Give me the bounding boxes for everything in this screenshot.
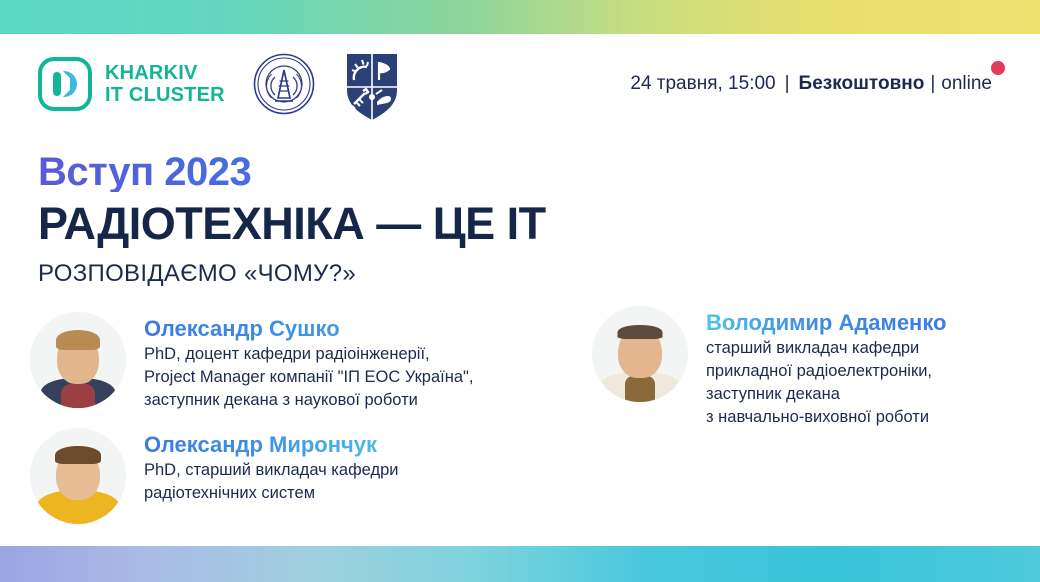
speaker-card: Олександр Мирончук PhD, старший викладач… bbox=[30, 428, 590, 524]
kic-wordmark-line1: KHARKIV bbox=[105, 62, 225, 84]
kic-wordmark-line2: IT CLUSTER bbox=[105, 84, 225, 106]
avatar bbox=[30, 312, 126, 408]
avatar bbox=[30, 428, 126, 524]
kic-letter-i-icon bbox=[53, 72, 61, 96]
speaker-card: Олександр Сушко PhD, доцент кафедри раді… bbox=[30, 312, 590, 412]
speaker-role: старший викладач кафедри прикладної раді… bbox=[706, 337, 947, 428]
event-poster: KHARKIV IT CLUSTER bbox=[0, 0, 1040, 582]
avatar-hair bbox=[55, 446, 101, 464]
university-shield-icon bbox=[343, 50, 401, 120]
university-shield-logo bbox=[343, 50, 401, 118]
event-price: Безкоштовно bbox=[799, 73, 925, 95]
live-dot-icon bbox=[991, 61, 1005, 75]
speaker-info: Володимир Адаменко старший викладач кафе… bbox=[688, 306, 947, 428]
event-meta: 24 травня, 15:00 | Безкоштовно | online bbox=[630, 73, 992, 95]
speaker-card: Володимир Адаменко старший викладач кафе… bbox=[592, 306, 1022, 428]
kic-letter-c-icon bbox=[63, 71, 77, 97]
kic-wordmark: KHARKIV IT CLUSTER bbox=[105, 62, 225, 107]
bottom-gradient-bar bbox=[0, 546, 1040, 582]
speaker-role: PhD, старший викладач кафедри радіотехні… bbox=[144, 459, 398, 505]
speakers-left-column: Олександр Сушко PhD, доцент кафедри раді… bbox=[30, 312, 590, 540]
avatar-hair bbox=[618, 325, 663, 339]
speaker-info: Олександр Сушко PhD, доцент кафедри раді… bbox=[126, 312, 473, 412]
speaker-name: Олександр Мирончук bbox=[144, 432, 398, 457]
speaker-name: Володимир Адаменко bbox=[706, 310, 947, 335]
nure-seal-icon bbox=[253, 53, 315, 115]
avatar bbox=[592, 306, 688, 402]
logo-group: KHARKIV IT CLUSTER bbox=[38, 50, 401, 118]
speaker-name: Олександр Сушко bbox=[144, 316, 473, 341]
event-date: 24 травня, 15:00 bbox=[630, 73, 775, 95]
page-title: РАДІОТЕХНІКА — ЦЕ IT bbox=[38, 200, 738, 249]
event-separator-1: | bbox=[785, 73, 790, 95]
speaker-role: PhD, доцент кафедри радіоінженерії, Proj… bbox=[144, 343, 473, 411]
event-separator-2: | bbox=[930, 73, 935, 95]
title-kicker: Вступ 2023 bbox=[38, 152, 738, 192]
avatar-embroidery bbox=[625, 376, 655, 402]
top-gradient-bar bbox=[0, 0, 1040, 34]
kic-mark-icon bbox=[38, 57, 92, 111]
event-format-wrap: online bbox=[941, 73, 992, 95]
nure-seal-logo bbox=[253, 53, 315, 115]
poster-header: KHARKIV IT CLUSTER bbox=[0, 34, 1040, 134]
speakers-right-column: Володимир Адаменко старший викладач кафе… bbox=[592, 306, 1022, 444]
title-block: Вступ 2023 РАДІОТЕХНІКА — ЦЕ IT РОЗПОВІД… bbox=[38, 152, 738, 287]
title-subhead: РОЗПОВІДАЄМО «ЧОМУ?» bbox=[38, 261, 738, 287]
event-format: online bbox=[941, 73, 992, 94]
kharkiv-it-cluster-logo: KHARKIV IT CLUSTER bbox=[38, 57, 225, 111]
avatar-hair bbox=[56, 330, 100, 350]
avatar-shirt bbox=[61, 384, 95, 408]
speaker-info: Олександр Мирончук PhD, старший викладач… bbox=[126, 428, 398, 505]
